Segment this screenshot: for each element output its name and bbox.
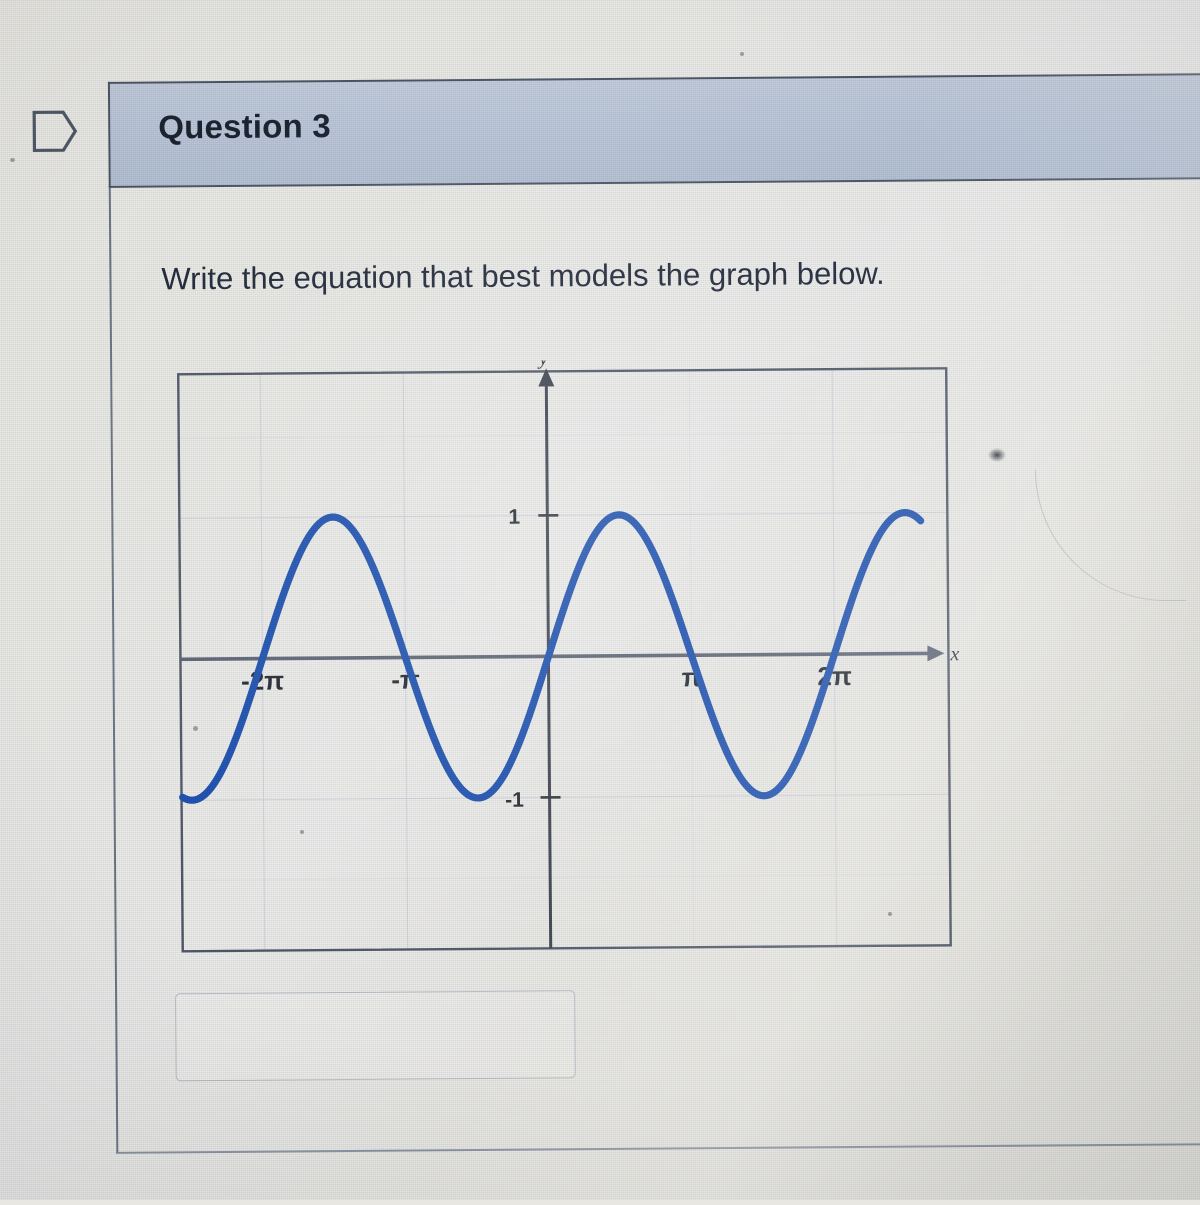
sine-graph: x y 1 -1 -2π -π π 2π [167, 357, 962, 963]
question-prompt-text: Write the equation that best models the … [161, 256, 884, 298]
flag-pentagon-icon[interactable] [30, 104, 78, 158]
sine-curve [180, 512, 922, 800]
quiz-page: Question 3 Write the equation that best … [0, 0, 1200, 1205]
answer-input[interactable] [175, 990, 576, 1081]
x-axis-label: x [949, 643, 959, 665]
y-tick-label-neg1: -1 [505, 789, 524, 812]
y-axis-label: y [537, 357, 548, 369]
x-tick-label-neg2pi: -2π [241, 665, 284, 695]
graph-svg: x y 1 -1 -2π -π π 2π [167, 357, 962, 963]
question-header: Question 3 [108, 73, 1200, 188]
question-title: Question 3 [158, 107, 331, 146]
y-tick-label-1: 1 [508, 506, 520, 529]
question-body: Write the equation that best models the … [109, 179, 1200, 1154]
